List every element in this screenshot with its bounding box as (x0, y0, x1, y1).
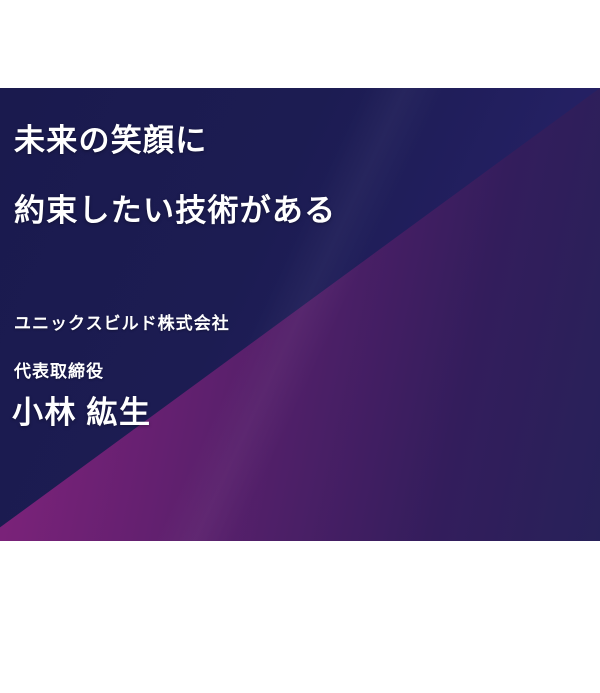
headline-line-1: 未来の笑顔に (14, 125, 207, 156)
job-title: 代表取締役 (14, 363, 104, 380)
top-white-gutter (0, 0, 600, 88)
person-name: 小林 紘生 (12, 397, 152, 428)
bottom-white-area (0, 541, 600, 693)
headline-line-2: 約束したい技術がある (14, 195, 336, 226)
page-root: 未来の笑顔に 約束したい技術がある ユニックスビルド株式会社 代表取締役 小林 … (0, 0, 600, 693)
hero-text-content: 未来の笑顔に 約束したい技術がある ユニックスビルド株式会社 代表取締役 小林 … (0, 88, 600, 541)
company-name: ユニックスビルド株式会社 (14, 315, 230, 332)
hero-banner: 未来の笑顔に 約束したい技術がある ユニックスビルド株式会社 代表取締役 小林 … (0, 88, 600, 541)
